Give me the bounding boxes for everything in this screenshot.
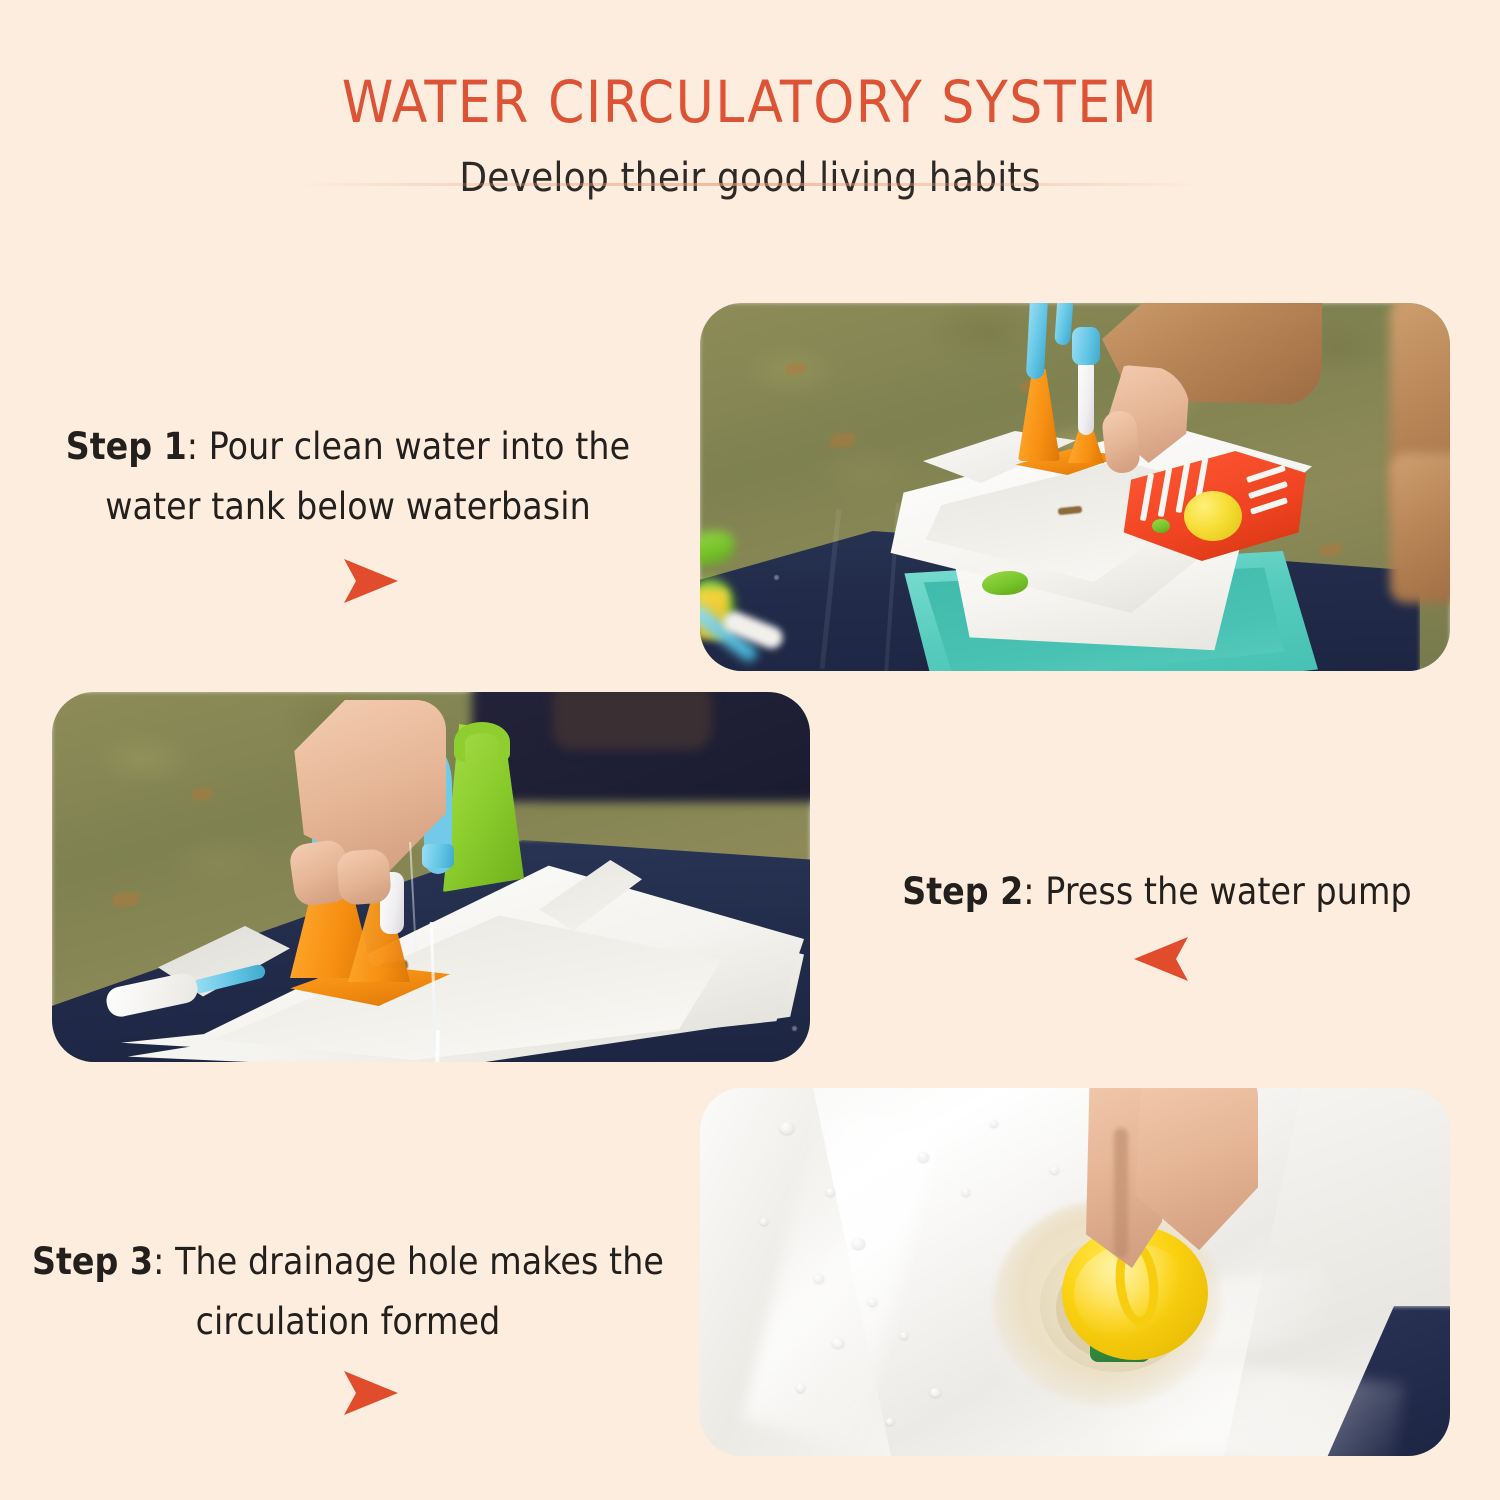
page-title: WATER CIRCULATORY SYSTEM (0, 72, 1500, 133)
arrow-right-icon (336, 556, 406, 610)
header-divider (300, 183, 1200, 186)
step-2-body: Press the water pump (1045, 870, 1411, 913)
step-2-text-block: Step 2: Press the water pump (846, 862, 1468, 922)
step-2-label: Step 2 (902, 870, 1023, 913)
step-1-separator: : (187, 425, 209, 468)
step-3-text-block: Step 3: The drainage hole makes the circ… (28, 1232, 668, 1352)
arrow-right-icon (336, 1368, 406, 1422)
step-3-label: Step 3 (32, 1240, 153, 1283)
page-subtitle: Develop their good living habits (0, 155, 1500, 201)
step-3-body: The drainage hole makes the circulation … (175, 1240, 664, 1343)
arrow-left-icon (1126, 934, 1196, 988)
step-1-text-block: Step 1: Pour clean water into the water … (28, 417, 668, 537)
header: WATER CIRCULATORY SYSTEM Develop their g… (0, 0, 1500, 201)
step-3-separator: : (153, 1240, 175, 1283)
step-3-photo (700, 1088, 1450, 1456)
step-2-separator: : (1023, 870, 1045, 913)
step-2-photo (52, 692, 810, 1062)
step-1-photo (700, 303, 1450, 671)
step-1-label: Step 1 (66, 425, 187, 468)
